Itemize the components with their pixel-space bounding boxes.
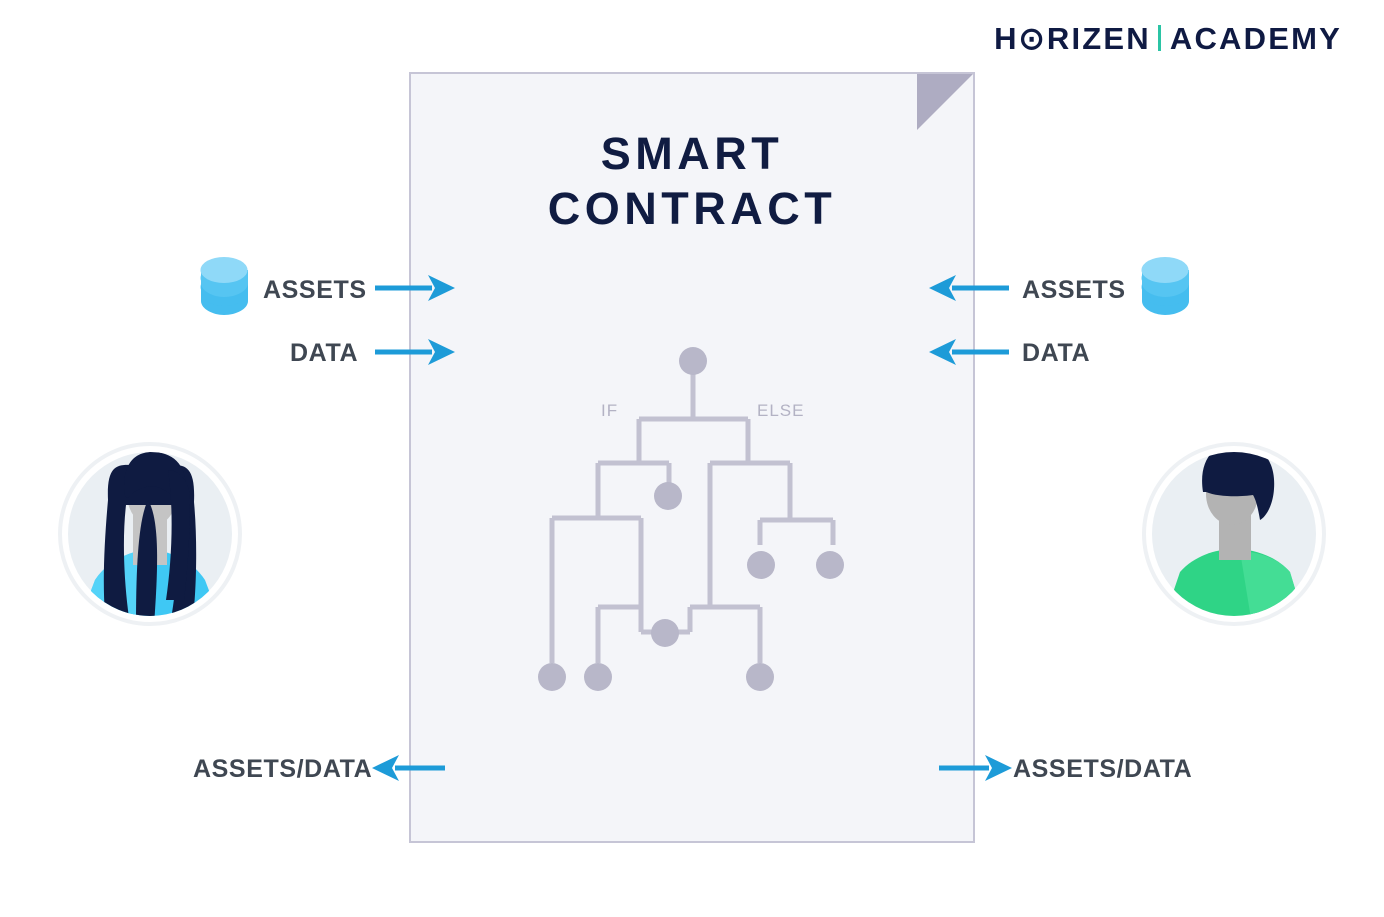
document-title-line2: CONTRACT: [411, 182, 973, 237]
avatar-hair-front-left: [136, 500, 157, 625]
label-data-input-right: DATA: [1022, 339, 1090, 368]
label-output-right: ASSETS/DATA: [1013, 755, 1192, 784]
document-title-line1: SMART: [411, 127, 973, 182]
coin-stack-icon-right: [1142, 257, 1190, 315]
avatar-hair-left: [104, 465, 196, 625]
avatar-shirt-right-highlight: [1240, 551, 1306, 625]
avatar-shirt-left-highlight: [78, 550, 150, 625]
avatar-shirt-left: [78, 550, 222, 625]
label-assets-input-right: ASSETS: [1022, 276, 1126, 305]
avatar-neck-left: [133, 512, 167, 565]
avatar-ring-left: [60, 444, 240, 624]
tree-label-if: IF: [601, 401, 618, 421]
label-data-input-left: DATA: [290, 339, 358, 368]
brand-logo: H⊙RIZEN ACADEMY: [994, 18, 1342, 58]
logo-divider: [1158, 25, 1161, 51]
avatar-ring-right: [1144, 444, 1324, 624]
document-title: SMART CONTRACT: [411, 127, 973, 237]
logo-academy-text: ACADEMY: [1170, 23, 1342, 54]
avatar-hair-top-left: [124, 452, 186, 498]
avatar-shirt-right: [1162, 549, 1306, 625]
avatar-left-female: [60, 444, 240, 625]
avatar-face-right: [1206, 463, 1258, 525]
avatar-neck-right: [1219, 514, 1251, 560]
avatar-hair-right: [1202, 443, 1274, 520]
label-output-left: ASSETS/DATA: [193, 755, 372, 784]
avatar-hair-strand-left: [166, 470, 190, 600]
label-assets-input-left: ASSETS: [263, 276, 367, 305]
avatar-right-male: [1144, 443, 1324, 625]
logo-horizen-text: H⊙RIZEN: [994, 23, 1151, 54]
document-fold-corner-icon: [917, 74, 973, 130]
tree-label-else: ELSE: [757, 401, 804, 421]
avatar-bg-right: [1152, 452, 1316, 616]
smart-contract-document: SMART CONTRACT: [409, 72, 975, 843]
avatar-bg-left: [68, 452, 232, 616]
coin-stack-icon-left: [201, 257, 249, 315]
avatar-face-left: [127, 462, 177, 526]
